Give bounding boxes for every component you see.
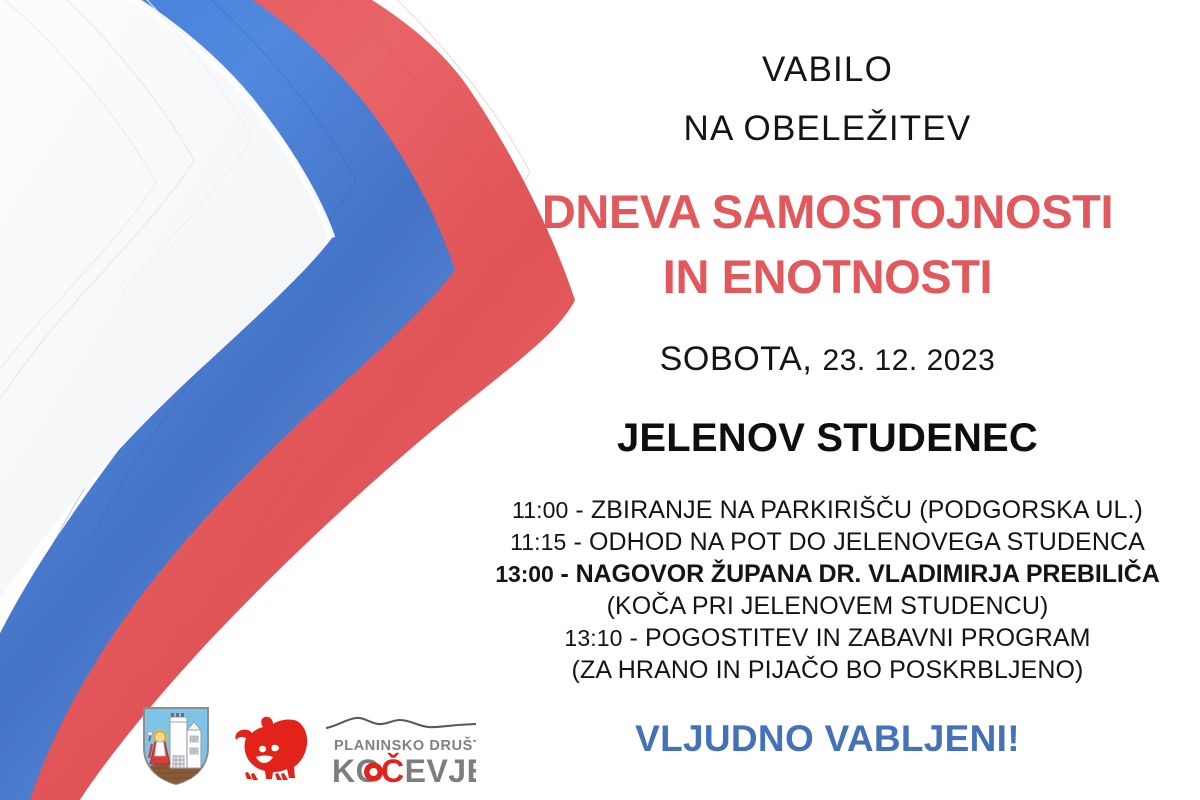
- schedule-item-time: 13:10: [564, 625, 622, 651]
- event-date-value: 23. 12. 2023: [823, 344, 996, 377]
- headline-line-2: IN ENOTNOSTI: [663, 253, 992, 300]
- schedule-item-text: NAGOVOR ŽUPANA DR. VLADIMIRJA PREBILIČA: [576, 560, 1160, 588]
- planinsko-drustvo-logo: PLANINSKO DRUŠTVO KOČEVJE: [234, 712, 476, 788]
- event-date: SOBOTA, 23. 12. 2023: [660, 342, 996, 376]
- schedule-item-text: POGOSTITEV IN ZABAVNI PROGRAM: [645, 624, 1091, 652]
- schedule-item: (KOČA PRI JELENOVEM STUDENCU): [607, 590, 1049, 622]
- schedule-list: 11:00 - ZBIRANJE NA PARKIRIŠČU (PODGORSK…: [455, 494, 1200, 686]
- welcome-message: VLJUDNO VABLJENI!: [635, 720, 1020, 757]
- schedule-item-time: 11:15: [510, 529, 566, 555]
- bear-icon: [234, 714, 324, 786]
- schedule-item: (ZA HRANO IN PIJAČO BO POSKRBLJENO): [572, 654, 1084, 686]
- schedule-item: 11:15 - ODHOD NA POT DO JELENOVEGA STUDE…: [510, 526, 1145, 558]
- schedule-item-text: ODHOD NA POT DO JELENOVEGA STUDENCA: [589, 528, 1145, 556]
- schedule-item: 13:00 - NAGOVOR ŽUPANA DR. VLADIMIRJA PR…: [495, 558, 1159, 590]
- invitation-line-2: NA OBELEŽITEV: [684, 111, 972, 146]
- schedule-item-separator: -: [622, 624, 645, 652]
- invitation-line-1: VABILO: [762, 52, 893, 87]
- event-location: JELENOV STUDENEC: [617, 418, 1038, 458]
- headline-line-1: DNEVA SAMOSTOJNOSTI: [542, 188, 1113, 235]
- schedule-item-time: 11:00: [512, 497, 568, 523]
- poster-text-column: VABILO NA OBELEŽITEV DNEVA SAMOSTOJNOSTI…: [455, 0, 1200, 800]
- schedule-item-separator: -: [568, 496, 591, 524]
- schedule-item-text: (ZA HRANO IN PIJAČO BO POSKRBLJENO): [572, 656, 1084, 684]
- logo-row: PLANINSKO DRUŠTVO KOČEVJE: [140, 704, 476, 788]
- schedule-item-text: (KOČA PRI JELENOVEM STUDENCU): [607, 592, 1049, 620]
- svg-text:KOČEVJE: KOČEVJE: [332, 753, 476, 788]
- kocevje-coat-of-arms-icon: [140, 704, 212, 788]
- schedule-item: 13:10 - POGOSTITEV IN ZABAVNI PROGRAM: [564, 622, 1090, 654]
- poster-canvas: VABILO NA OBELEŽITEV DNEVA SAMOSTOJNOSTI…: [0, 0, 1200, 800]
- schedule-item-time: 13:00: [495, 561, 553, 587]
- schedule-item: 11:00 - ZBIRANJE NA PARKIRIŠČU (PODGORSK…: [512, 494, 1143, 526]
- planinsko-drustvo-kocevje-wordmark: PLANINSKO DRUŠTVO KOČEVJE: [326, 712, 476, 788]
- event-day-label: SOBOTA,: [660, 340, 813, 378]
- schedule-item-separator: -: [554, 560, 576, 588]
- schedule-item-text: ZBIRANJE NA PARKIRIŠČU (PODGORSKA UL.): [591, 496, 1143, 524]
- svg-text:PLANINSKO DRUŠTVO: PLANINSKO DRUŠTVO: [334, 736, 476, 754]
- schedule-item-separator: -: [566, 528, 589, 556]
